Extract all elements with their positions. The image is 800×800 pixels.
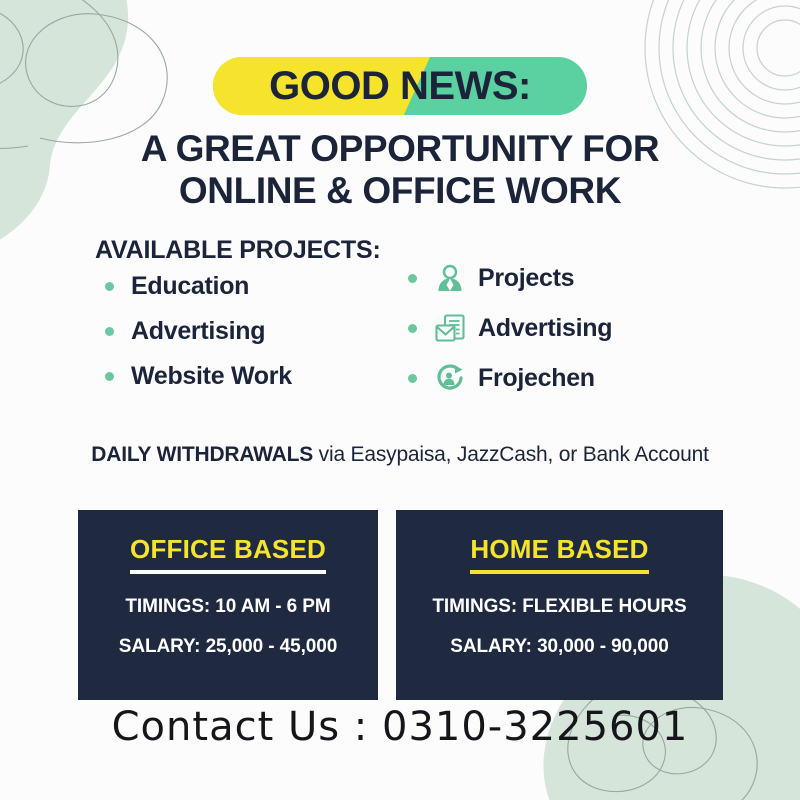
list-item: Education — [105, 272, 405, 301]
list-item-label: Frojechen — [478, 364, 595, 393]
user-icon — [434, 262, 466, 294]
banner-title: GOOD NEWS: — [213, 57, 587, 115]
withdrawals-note: DAILY WITHDRAWALS via Easypaisa, JazzCas… — [0, 443, 800, 467]
list-item-label: Education — [131, 272, 249, 301]
page-title: A GREAT OPPORTUNITY FOR ONLINE & OFFICE … — [0, 128, 800, 212]
bullet-dot-icon — [105, 327, 114, 336]
card-title: OFFICE BASED — [130, 534, 326, 574]
withdrawals-bold-text: DAILY WITHDRAWALS — [91, 443, 313, 466]
good-news-banner: GOOD NEWS: — [213, 57, 587, 115]
card-timings: TIMINGS: 10 AM - 6 PM — [78, 596, 378, 618]
list-item-label: Projects — [478, 264, 574, 293]
card-title: HOME BASED — [470, 534, 648, 574]
bullet-dot-icon — [408, 274, 417, 283]
headline-line-2: ONLINE & OFFICE WORK — [0, 170, 800, 212]
list-item: Projects — [408, 262, 728, 294]
list-item: Advertising — [408, 312, 728, 344]
card-timings: TIMINGS: FLEXIBLE HOURS — [396, 596, 723, 618]
list-item: Frojechen — [408, 362, 728, 394]
list-item: Website Work — [105, 362, 405, 391]
projects-right-column: Projects Advertising — [408, 262, 728, 412]
contact-line: Contact Us : 0310-3225601 — [0, 704, 800, 750]
bullet-dot-icon — [105, 282, 114, 291]
card-salary: SALARY: 30,000 - 90,000 — [396, 636, 723, 658]
bullet-dot-icon — [408, 374, 417, 383]
list-item-label: Advertising — [478, 314, 612, 343]
available-projects-label: AVAILABLE PROJECTS: — [95, 236, 381, 265]
card-salary: SALARY: 25,000 - 45,000 — [78, 636, 378, 658]
bullet-dot-icon — [105, 372, 114, 381]
bullet-dot-icon — [408, 324, 417, 333]
list-item-label: Advertising — [131, 317, 265, 346]
headline-line-1: A GREAT OPPORTUNITY FOR — [0, 128, 800, 170]
projects-left-column: Education Advertising Website Work — [105, 272, 405, 407]
office-based-card: OFFICE BASED TIMINGS: 10 AM - 6 PM SALAR… — [78, 510, 378, 700]
poster-canvas: GOOD NEWS: A GREAT OPPORTUNITY FOR ONLIN… — [0, 0, 800, 800]
home-based-card: HOME BASED TIMINGS: FLEXIBLE HOURS SALAR… — [396, 510, 723, 700]
list-item-label: Website Work — [131, 362, 292, 391]
withdrawals-rest-text: via Easypaisa, JazzCash, or Bank Account — [313, 443, 709, 466]
list-item: Advertising — [105, 317, 405, 346]
mail-document-icon — [434, 312, 466, 344]
user-refresh-icon — [434, 362, 466, 394]
